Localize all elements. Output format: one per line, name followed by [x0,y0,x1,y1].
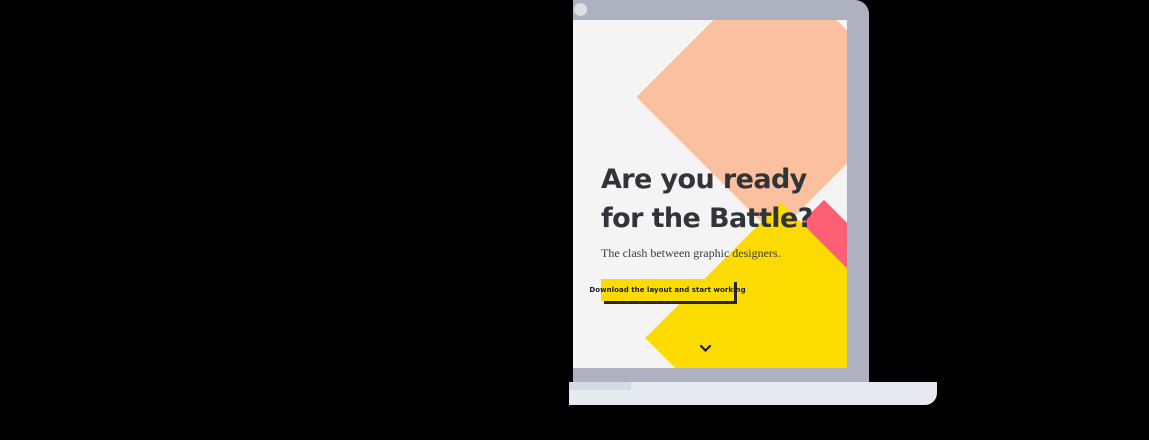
laptop-base-bar [573,368,869,382]
hero-content: Are you ready for the Battle? The clash … [601,160,847,301]
laptop-device-mockup: Are you ready for the Battle? The clash … [573,0,869,440]
download-layout-button[interactable]: Download the layout and start working [601,279,734,301]
screenshot-canvas: Are you ready for the Battle? The clash … [0,0,1149,440]
page-title: Are you ready for the Battle? [601,160,847,238]
scroll-down-button[interactable] [697,342,713,354]
chevron-down-icon [700,345,711,352]
page-subtitle: The clash between graphic designers. [601,246,847,261]
cta-container: Download the layout and start working [601,279,734,301]
laptop-base-notch [569,382,631,390]
laptop-screen: Are you ready for the Battle? The clash … [573,20,847,368]
webcam-icon [574,3,587,16]
